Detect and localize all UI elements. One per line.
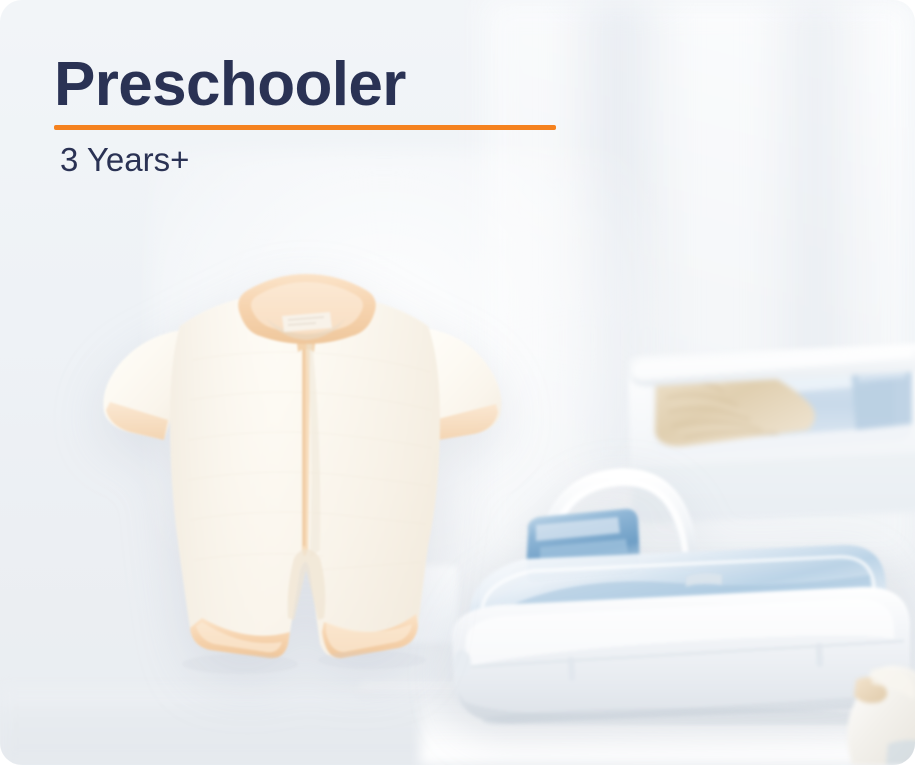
page-title: Preschooler <box>54 52 556 117</box>
title-underline-accent <box>54 125 556 130</box>
preschooler-category-banner[interactable]: Preschooler 3 Years+ <box>0 0 915 765</box>
age-range-subtitle: 3 Years+ <box>60 142 556 178</box>
foreground-bundle <box>826 648 915 765</box>
baby-romper <box>80 240 530 680</box>
banner-header: Preschooler 3 Years+ <box>54 52 556 178</box>
